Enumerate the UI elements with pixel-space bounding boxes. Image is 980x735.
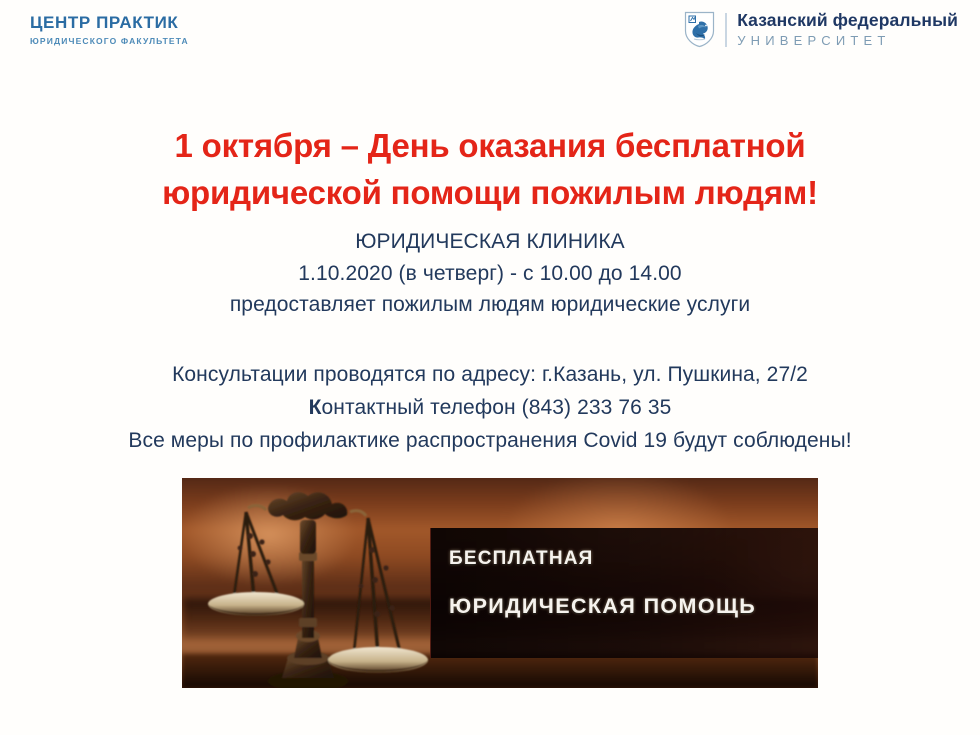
contact-address: Консультации проводятся по адресу: г.Каз… <box>0 358 980 391</box>
contact-phone-text: онтактный телефон (843) 233 76 35 <box>322 396 672 419</box>
clinic-name: ЮРИДИЧЕСКАЯ КЛИНИКА <box>0 226 980 258</box>
clinic-service-description: предоставляет пожилым людям юридические … <box>0 289 980 321</box>
kfu-shield-zilant-icon <box>684 11 715 48</box>
legal-aid-photo: БЕСПЛАТНАЯ ЮРИДИЧЕСКАЯ ПОМОЩЬ <box>182 478 818 688</box>
page-title-line-1: 1 октября – День оказания бесплатной <box>0 122 980 169</box>
page-title-line-2: юридической помощи пожилым людям! <box>0 169 980 216</box>
kfu-logo-subtitle: УНИВЕРСИТЕТ <box>737 34 958 47</box>
center-praktik-logo-title: ЦЕНТР ПРАКТИК <box>30 14 189 31</box>
center-praktik-logo-subtitle: ЮРИДИЧЕСКОГО ФАКУЛЬТЕТА <box>30 37 189 46</box>
photo-caption-line-2: ЮРИДИЧЕСКАЯ ПОМОЩЬ <box>449 594 756 619</box>
clinic-info-block: ЮРИДИЧЕСКАЯ КЛИНИКА 1.10.2020 (в четверг… <box>0 226 980 321</box>
kfu-logo-title: Казанский федеральный <box>737 12 958 30</box>
center-praktik-logo: ЦЕНТР ПРАКТИК ЮРИДИЧЕСКОГО ФАКУЛЬТЕТА <box>30 14 189 46</box>
page-title: 1 октября – День оказания бесплатной юри… <box>0 122 980 216</box>
covid-notice: Все меры по профилактике распространения… <box>0 424 980 457</box>
contact-info-block: Консультации проводятся по адресу: г.Каз… <box>0 358 980 457</box>
contact-phone: Контактный телефон (843) 233 76 35 <box>0 391 980 424</box>
photo-caption-line-1: БЕСПЛАТНАЯ <box>449 548 594 570</box>
kfu-logo: Казанский федеральный УНИВЕРСИТЕТ <box>684 11 958 48</box>
photo-caption-plate: БЕСПЛАТНАЯ ЮРИДИЧЕСКАЯ ПОМОЩЬ <box>430 528 818 658</box>
contact-phone-initial: К <box>309 396 322 419</box>
clinic-datetime: 1.10.2020 (в четверг) - с 10.00 до 14.00 <box>0 258 980 290</box>
announcement-page: ЦЕНТР ПРАКТИК ЮРИДИЧЕСКОГО ФАКУЛЬТЕТА Ка… <box>0 0 980 735</box>
kfu-logo-divider <box>725 13 727 47</box>
